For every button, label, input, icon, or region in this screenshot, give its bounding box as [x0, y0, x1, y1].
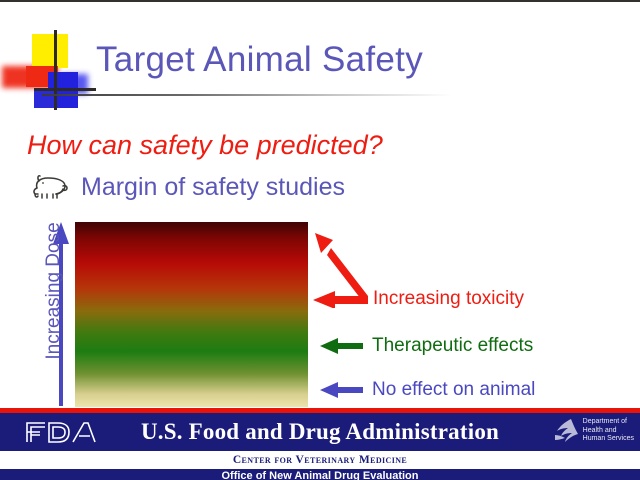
center-name: Center for Veterinary Medicine — [0, 451, 640, 469]
callout-no-effect-on-animal: No effect on animal — [318, 379, 535, 401]
bullet-label: Margin of safety studies — [81, 173, 345, 202]
hhs-eagle-icon — [553, 417, 579, 445]
dose-axis-label: Increasing Dose — [43, 207, 65, 375]
hhs-line-2: Health and — [583, 427, 634, 436]
footer: U.S. Food and Drug Administration Depart… — [0, 408, 640, 480]
deco-horizontal-line — [34, 88, 96, 91]
office-name: Office of New Animal Drug Evaluation — [0, 469, 640, 480]
page-title: Target Animal Safety — [96, 40, 423, 80]
deco-yellow-block — [32, 34, 68, 68]
callout-label: Therapeutic effects — [372, 335, 533, 357]
deco-vertical-line — [54, 30, 57, 110]
hhs-logo-block: Department of Health and Human Services — [553, 417, 634, 445]
callout-label: Increasing toxicity — [373, 288, 524, 310]
agency-name: U.S. Food and Drug Administration — [0, 413, 640, 451]
callout-label: No effect on animal — [372, 379, 535, 401]
pig-icon — [26, 172, 72, 202]
callout-therapeutic-effects: Therapeutic effects — [318, 335, 533, 357]
left-arrow-icon — [318, 335, 364, 357]
hhs-line-1: Department of — [583, 418, 634, 427]
question-heading: How can safety be predicted? — [27, 130, 383, 161]
dose-response-gradient-panel — [75, 222, 308, 407]
callout-increasing-toxicity: Increasing toxicity — [311, 288, 524, 310]
hhs-logo-text: Department of Health and Human Services — [583, 418, 634, 444]
deco-blue-foot-block — [34, 90, 56, 108]
footer-agency-bar: U.S. Food and Drug Administration Depart… — [0, 413, 640, 451]
slide-canvas: Target Animal Safety How can safety be p… — [0, 0, 640, 480]
hhs-line-3: Human Services — [583, 435, 634, 444]
left-arrow-icon — [318, 379, 364, 401]
dose-axis: Increasing Dose — [24, 220, 72, 406]
title-underline-rule — [42, 94, 452, 96]
bullet-row: Margin of safety studies — [26, 172, 345, 202]
decorative-logo-mark — [18, 30, 92, 110]
